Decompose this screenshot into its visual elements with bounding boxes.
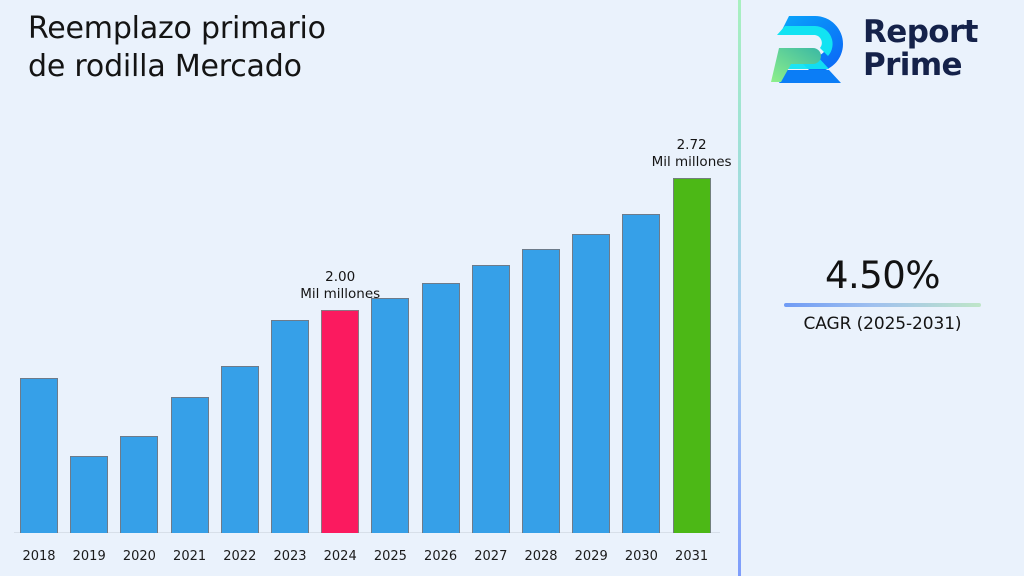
- bar-group: 2021: [171, 354, 209, 533]
- x-axis-label-2029: 2029: [575, 549, 608, 564]
- bar-2023[interactable]: [271, 320, 309, 533]
- bar-2029[interactable]: [572, 234, 610, 533]
- bar-value-unit: Mil millones: [652, 154, 732, 172]
- bar-2025[interactable]: [371, 298, 409, 533]
- bar-2031[interactable]: [673, 178, 711, 533]
- x-axis-label-2018: 2018: [22, 549, 55, 564]
- bar-2020[interactable]: [120, 436, 158, 533]
- bar-group: 2022: [221, 323, 259, 533]
- x-axis-label-2028: 2028: [524, 549, 557, 564]
- infographic-page: Reemplazo primario de rodilla Mercado 20…: [0, 0, 1024, 576]
- x-axis-label-2025: 2025: [374, 549, 407, 564]
- bar-value-number: 2.00: [300, 269, 380, 287]
- bar-group: 2020: [120, 393, 158, 533]
- bar-chart: 2018201920202021202220232.00Mil millones…: [0, 120, 738, 576]
- bar-2018[interactable]: [20, 378, 58, 533]
- brand-logo[interactable]: Report Prime: [771, 8, 978, 90]
- bar-value-number: 2.72: [652, 137, 732, 155]
- bar-group: 2030: [622, 171, 660, 533]
- bar-group: 2026: [422, 240, 460, 533]
- bar-2028[interactable]: [522, 249, 560, 533]
- bar-group: 2.00Mil millones2024: [321, 267, 359, 533]
- x-axis-label-2026: 2026: [424, 549, 457, 564]
- x-axis-label-2023: 2023: [273, 549, 306, 564]
- bar-group: 2.72Mil millones2031: [673, 135, 711, 533]
- bar-2019[interactable]: [70, 456, 108, 533]
- x-axis-label-2021: 2021: [173, 549, 206, 564]
- bar-value-label-2024: 2.00Mil millones: [300, 269, 380, 304]
- chart-panel: Reemplazo primario de rodilla Mercado 20…: [0, 0, 738, 576]
- cagr-divider-rule: [784, 303, 981, 307]
- cagr-caption: CAGR (2025-2031): [741, 314, 1024, 334]
- bar-2026[interactable]: [422, 283, 460, 533]
- x-axis-label-2022: 2022: [223, 549, 256, 564]
- bar-2030[interactable]: [622, 214, 660, 533]
- bar-group: 2025: [371, 255, 409, 533]
- bar-group: 2027: [472, 222, 510, 533]
- bar-value-unit: Mil millones: [300, 286, 380, 304]
- bar-group: 2018: [20, 335, 58, 533]
- bar-2027[interactable]: [472, 265, 510, 533]
- brand-wordmark: Report Prime: [863, 16, 978, 83]
- bar-2024[interactable]: [321, 310, 359, 533]
- bar-value-label-2031: 2.72Mil millones: [652, 137, 732, 172]
- x-axis-label-2019: 2019: [73, 549, 106, 564]
- x-axis-label-2030: 2030: [625, 549, 658, 564]
- brand-panel: Report Prime 4.50% CAGR (2025-2031): [741, 0, 1024, 576]
- cagr-value: 4.50%: [741, 256, 1024, 297]
- bar-group: 2029: [572, 191, 610, 533]
- bar-2022[interactable]: [221, 366, 259, 533]
- bar-group: 2023: [271, 277, 309, 533]
- bar-2021[interactable]: [171, 397, 209, 533]
- bar-group: 2019: [70, 413, 108, 533]
- x-axis-label-2031: 2031: [675, 549, 708, 564]
- x-axis-label-2027: 2027: [474, 549, 507, 564]
- x-axis-label-2024: 2024: [324, 549, 357, 564]
- bar-group: 2028: [522, 206, 560, 533]
- report-prime-logo-icon: [771, 8, 849, 90]
- x-axis-label-2020: 2020: [123, 549, 156, 564]
- page-title: Reemplazo primario de rodilla Mercado: [28, 10, 326, 86]
- cagr-block: 4.50% CAGR (2025-2031): [741, 256, 1024, 334]
